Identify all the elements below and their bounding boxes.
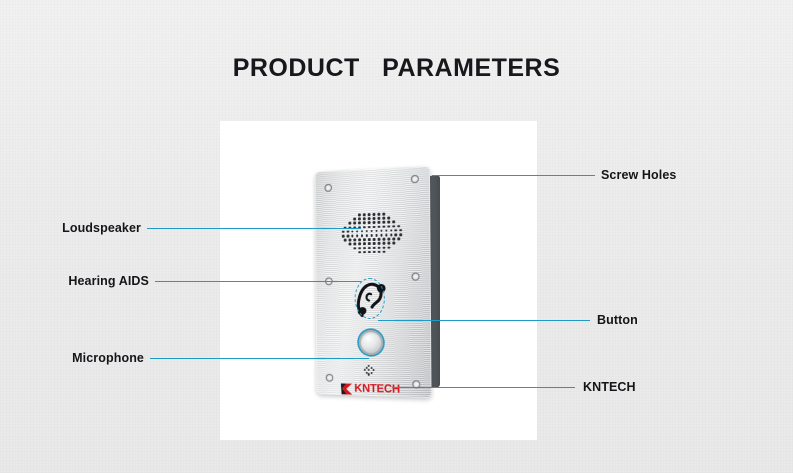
grille-dot <box>375 234 378 237</box>
microphone-hole <box>368 369 370 371</box>
grille-dot <box>354 239 357 242</box>
grille-dot <box>388 238 391 241</box>
screw-hole-icon <box>411 175 419 183</box>
callout-label-hearing-aids: Hearing AIDS <box>0 274 149 288</box>
microphone-hole <box>370 367 372 369</box>
brand-logo-text: KNTECH <box>354 383 400 396</box>
leader-line-kntech <box>392 387 575 388</box>
screw-hole-icon <box>324 184 332 192</box>
grille-dot <box>353 218 356 221</box>
grille-dot <box>363 242 366 245</box>
grille-dot <box>382 213 385 216</box>
grille-dot <box>390 233 393 236</box>
grille-dot <box>383 225 386 228</box>
grille-dot <box>378 238 381 241</box>
grille-dot <box>385 229 388 232</box>
microphone-hole <box>370 372 372 374</box>
grille-dot <box>383 250 386 253</box>
leader-line-loudspeaker <box>147 228 361 229</box>
brand-logo: KNTECH <box>340 382 413 397</box>
grille-dot <box>397 237 400 240</box>
microphone-hole <box>365 372 367 374</box>
grille-dot <box>400 233 403 236</box>
grille-dot <box>380 229 383 232</box>
grille-dot <box>385 234 388 237</box>
page-title: PRODUCT PARAMETERS <box>0 54 793 83</box>
grille-dot <box>397 225 400 228</box>
microphone-hole <box>368 373 370 375</box>
grille-dot <box>378 225 381 228</box>
grille-dot <box>368 242 371 245</box>
grille-dot <box>370 230 373 233</box>
microphone-hole <box>363 369 365 371</box>
grille-dot <box>363 247 366 250</box>
grille-dot <box>368 217 371 220</box>
kntech-k-mark-icon <box>340 382 354 395</box>
grille-dot <box>387 217 390 220</box>
grille-dot <box>354 247 357 250</box>
microphone-hole <box>365 366 367 368</box>
grille-dot <box>356 234 358 237</box>
grille-dot <box>358 222 361 225</box>
leader-line-hearing-aids <box>155 281 361 282</box>
callout-label-loudspeaker: Loudspeaker <box>0 221 141 235</box>
grille-dot <box>349 222 352 225</box>
hearing-aid-highlight-ring <box>355 278 385 319</box>
grille-dot <box>378 217 381 220</box>
grille-dot <box>344 239 346 242</box>
callout-label-kntech: KNTECH <box>583 380 636 394</box>
grille-dot <box>366 230 369 233</box>
grille-dot <box>373 246 376 249</box>
leader-line-screw-holes <box>432 175 595 176</box>
grille-dot-row <box>342 242 402 246</box>
screw-hole-icon <box>411 272 419 280</box>
grille-dot <box>400 229 403 232</box>
product-parameters-diagram: PRODUCT PARAMETERS <box>0 0 793 473</box>
grille-dot <box>347 235 349 238</box>
grille-dot <box>363 217 366 220</box>
microphone-holes-icon <box>363 365 377 377</box>
grille-dot <box>358 247 361 250</box>
grille-dot <box>363 213 366 216</box>
grille-dot <box>373 251 376 254</box>
grille-dot <box>373 238 376 241</box>
grille-dot <box>382 217 385 220</box>
leader-line-microphone <box>150 358 369 359</box>
grille-dot <box>368 247 371 250</box>
grille-dot <box>387 221 390 224</box>
grille-dot-row <box>342 237 402 241</box>
hearing-aid-icon <box>348 277 397 321</box>
grille-dot <box>383 246 386 249</box>
grille-dot <box>342 235 344 238</box>
grille-dot-row <box>342 250 402 254</box>
grille-dot <box>358 213 361 216</box>
grille-dot <box>395 229 398 232</box>
device-faceplate: KNTECH <box>315 166 432 398</box>
grille-dot <box>358 251 361 254</box>
grille-dot <box>347 230 349 233</box>
grille-dot <box>395 233 398 236</box>
leader-line-button <box>378 320 590 321</box>
grille-dot <box>392 238 395 241</box>
call-button[interactable] <box>359 330 384 355</box>
grille-dot <box>378 221 381 224</box>
grille-dot <box>380 234 383 237</box>
grille-dot <box>351 234 353 237</box>
grille-dot <box>368 226 371 229</box>
grille-dot <box>353 222 356 225</box>
grille-dot <box>388 242 391 245</box>
grille-dot <box>383 238 386 241</box>
grille-dot <box>361 230 363 233</box>
grille-dot <box>356 230 358 233</box>
grille-dot <box>368 251 371 254</box>
grille-dot <box>373 217 376 220</box>
grille-dot <box>349 243 352 246</box>
grille-dot <box>358 218 361 221</box>
callout-label-button: Button <box>597 313 638 327</box>
grille-dot <box>370 234 373 237</box>
grille-dot <box>387 225 390 228</box>
grille-dot <box>378 251 381 254</box>
grille-dot <box>363 238 366 241</box>
grille-dot <box>354 243 357 246</box>
callout-label-microphone: Microphone <box>0 351 144 365</box>
microphone-hole <box>372 369 374 371</box>
grille-dot <box>363 222 366 225</box>
grille-dot <box>390 229 393 232</box>
grille-dot <box>342 230 344 233</box>
grille-dot <box>373 225 376 228</box>
grille-dot <box>351 230 353 233</box>
grille-dot <box>392 221 395 224</box>
grille-dot <box>368 221 371 224</box>
callout-label-screw-holes: Screw Holes <box>601 168 676 182</box>
grille-dot <box>373 242 376 245</box>
grille-dot <box>368 213 371 216</box>
grille-dot <box>358 243 361 246</box>
grille-dot <box>368 238 371 241</box>
grille-dot <box>375 230 378 233</box>
grille-dot <box>373 221 376 224</box>
grille-dot <box>363 251 366 254</box>
grille-dot <box>378 242 381 245</box>
grille-dot <box>378 246 381 249</box>
grille-dot <box>392 225 395 228</box>
loudspeaker-grille-icon <box>342 212 403 265</box>
grille-dot <box>373 213 376 216</box>
grille-dot <box>358 238 361 241</box>
grille-dot <box>363 226 366 229</box>
screw-hole-icon <box>326 374 334 382</box>
grille-dot <box>378 213 381 216</box>
grille-dot <box>392 242 395 245</box>
grille-dot <box>382 221 385 224</box>
grille-dot <box>366 234 369 237</box>
grille-dot <box>349 239 352 242</box>
grille-dot <box>388 246 391 249</box>
grille-dot-row <box>342 246 402 250</box>
grille-dot <box>383 242 386 245</box>
grille-dot <box>361 234 363 237</box>
